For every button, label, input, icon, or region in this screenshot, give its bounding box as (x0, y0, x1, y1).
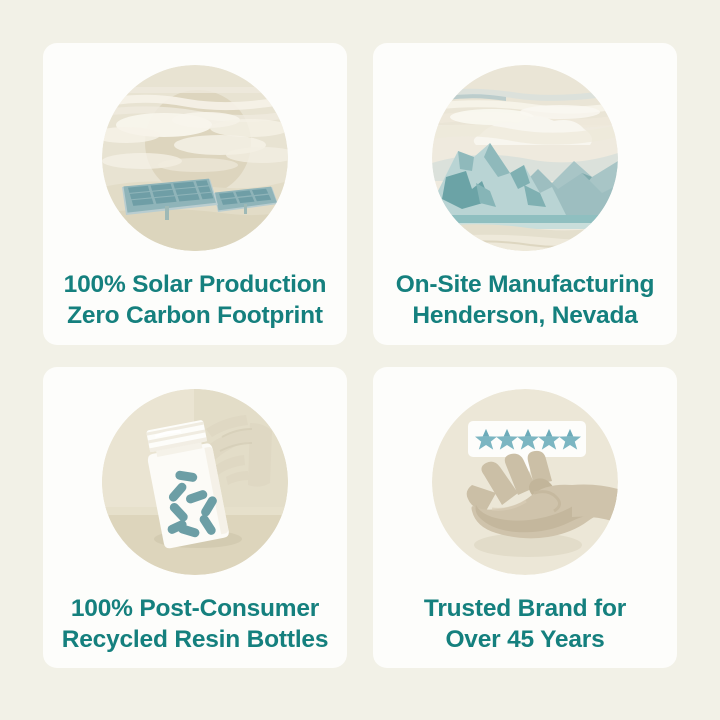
caption-line-2: Henderson, Nevada (396, 300, 655, 331)
hand-five-stars-icon (432, 389, 618, 575)
feature-card-trusted-brand[interactable]: Trusted Brand for Over 45 Years (373, 367, 677, 669)
card-caption: 100% Post-Consumer Recycled Resin Bottle… (62, 593, 329, 655)
pill-bottle-hand-icon (102, 389, 288, 575)
solar-panels-icon (102, 65, 288, 251)
caption-line-1: 100% Solar Production (64, 271, 327, 298)
caption-line-1: On-Site Manufacturing (396, 271, 655, 298)
mountain-landscape-icon (432, 65, 618, 251)
card-caption: 100% Solar Production Zero Carbon Footpr… (64, 269, 327, 331)
feature-card-on-site-manufacturing[interactable]: On-Site Manufacturing Henderson, Nevada (373, 43, 677, 345)
feature-card-solar-production[interactable]: 100% Solar Production Zero Carbon Footpr… (43, 43, 347, 345)
card-caption: On-Site Manufacturing Henderson, Nevada (396, 269, 655, 331)
caption-line-2: Recycled Resin Bottles (62, 624, 329, 655)
caption-line-2: Over 45 Years (424, 624, 626, 655)
card-caption: Trusted Brand for Over 45 Years (424, 593, 626, 655)
caption-line-1: 100% Post-Consumer (71, 595, 319, 622)
caption-line-2: Zero Carbon Footprint (64, 300, 327, 331)
caption-line-1: Trusted Brand for (424, 595, 626, 622)
feature-card-grid: 100% Solar Production Zero Carbon Footpr… (43, 43, 677, 668)
feature-card-recycled-resin[interactable]: 100% Post-Consumer Recycled Resin Bottle… (43, 367, 347, 669)
